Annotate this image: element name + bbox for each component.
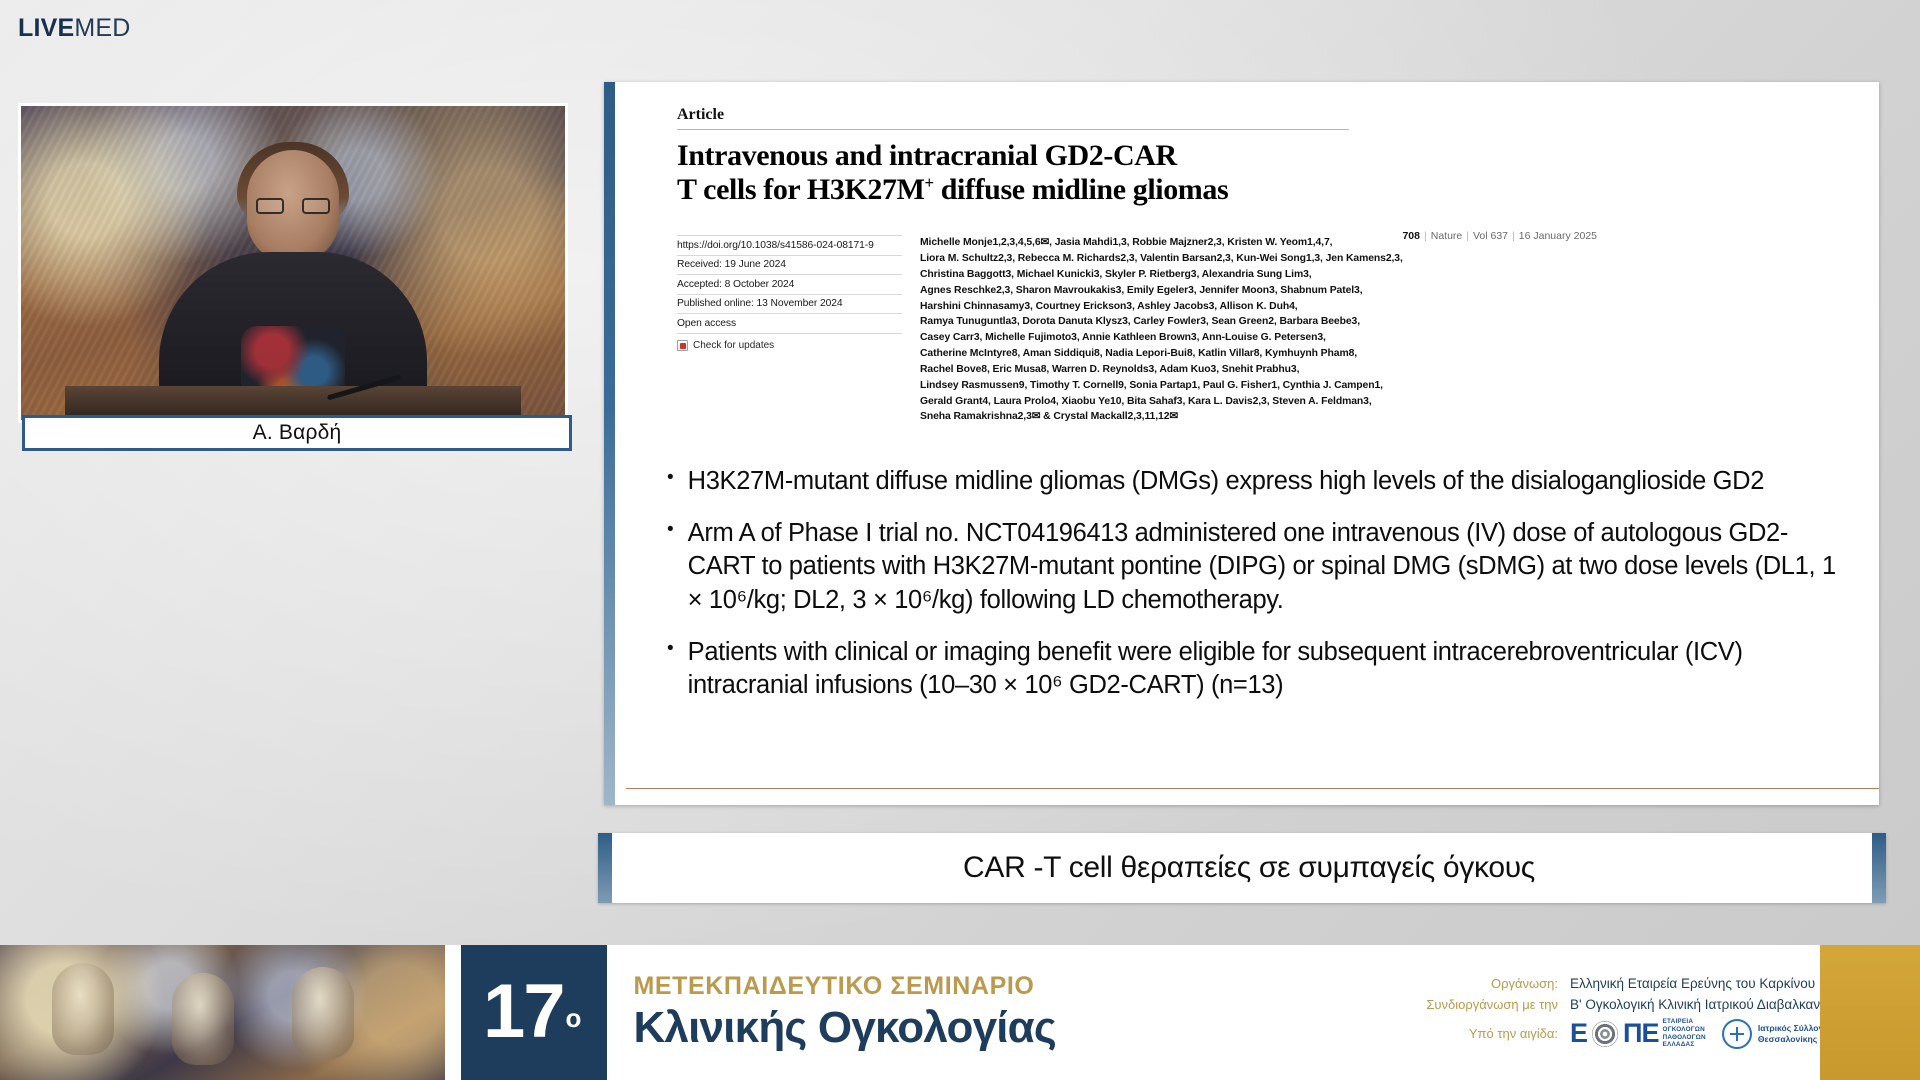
author-line: Agnes Reschke2,3, Sharon Mavroukakis3, E… [920,283,1841,299]
bullet-item: • H3K27M-mutant diffuse midline gliomas … [667,465,1849,498]
citation-volume: Vol 637 [1473,230,1508,242]
seminar-title-block: ΜΕΤΕΚΠΑΙΔΕΥΤΙΚΟ ΣΕΜΙΝΑΡΙΟ Κλινικής Ογκολ… [607,972,1056,1053]
eope-mark-left: E [1570,1018,1587,1049]
citation-date: 16 January 2025 [1519,230,1597,242]
banner-gold-corner [1820,945,1920,1080]
author-line: Gerald Grant4, Laura Prolo4, Xiaobu Ye10… [920,394,1841,410]
banner-main: 17 o ΜΕΤΕΚΠΑΙΔΕΥΤΙΚΟ ΣΕΜΙΝΑΡΙΟ Κλινικής … [445,945,1920,1080]
author-line: Harshini Chinnasamy3, Courtney Erickson3… [920,299,1841,315]
medical-cross-icon [1722,1019,1752,1049]
livemed-logo: LIVEMED [18,14,131,43]
event-banner: 17 o ΜΕΤΕΚΠΑΙΔΕΥΤΙΚΟ ΣΕΜΙΝΑΡΙΟ Κλινικής … [0,945,1920,1080]
seminar-title: Κλινικής Ογκολογίας [633,1003,1056,1053]
organizer-value: Ελληνική Εταιρεία Ερεύνης του Καρκίνου [1570,976,1815,991]
paper-title-line1: Intravenous and intracranial GD2-CAR [677,139,1177,172]
citation-sep-3: | [1508,230,1519,242]
author-line: Christina Baggott3, Michael Kunicki3, Sk… [920,267,1841,283]
slide-footer-rule [626,788,1879,790]
bullet-text: H3K27M-mutant diffuse midline gliomas (D… [688,465,1764,498]
banner-bust-figure [172,973,234,1065]
paper-metadata-column: https://doi.org/10.1038/s41586-024-08171… [677,235,902,425]
eope-subtext: ΕΤΑΙΡΕΙΑΟΓΚΟΛΟΓΩΝΠΑΘΟΛΟΓΩΝΕΛΛΑΔΑΣ [1663,1018,1706,1049]
banner-artwork [0,945,445,1080]
paper-meta-accepted: Accepted: 8 October 2024 [677,275,902,295]
auspices-label: Υπό την αιγίδα: [1380,1026,1558,1041]
edition-number: 17 [483,976,564,1048]
banner-bust-figure [52,963,114,1055]
slide[interactable]: Article Intravenous and intracranial GD2… [604,82,1879,805]
speaker-glasses-icon [256,198,330,214]
paper-clipping: Article Intravenous and intracranial GD2… [667,106,1849,425]
check-for-updates: Check for updates [677,340,902,351]
bullet-text: Arm A of Phase I trial no. NCT04196413 a… [688,517,1838,616]
paper-citation: 708|Nature|Vol 637|16 January 2025 [1402,230,1597,242]
session-title: CAR -T cell θεραπείες σε συμπαγείς όγκου… [963,851,1535,885]
auspices-logos: E ΠΕ ΕΤΑΙΡΕΙΑΟΓΚΟΛΟΓΩΝΠΑΘΟΛΟΓΩΝΕΛΛΑΔΑΣ Ι… [1570,1018,1833,1049]
author-line: Lindsey Rasmussen9, Timothy T. Cornell9,… [920,378,1841,394]
author-line: Liora M. Schultz2,3, Rebecca M. Richards… [920,251,1841,267]
session-title-bar: CAR -T cell θεραπείες σε συμπαγείς όγκου… [598,833,1886,903]
edition-number-block: 17 o [461,945,607,1080]
paper-meta-openaccess: Open access [677,314,902,334]
citation-journal: Nature [1431,230,1463,242]
paper-author-list: Michelle Monje1,2,3,4,5,6✉, Jasia Mahdi1… [920,235,1841,425]
bullet-marker-icon: • [667,465,674,487]
citation-page: 708 [1402,230,1420,242]
bullet-text: Patients with clinical or imaging benefi… [688,636,1838,702]
eope-mark-right: ΠΕ [1623,1018,1659,1049]
paper-meta-received: Received: 19 June 2024 [677,256,902,276]
isth-line2: Θεσσαλονίκης [1758,1034,1817,1044]
check-updates-label: Check for updates [693,340,774,351]
presentation-stage: LIVEMED Α. Βαρδή Article Intravenous and… [0,0,1920,1080]
paper-kicker-rule [677,129,1349,130]
bullet-marker-icon: • [667,517,674,539]
edition-number-ordinal: o [566,1003,582,1034]
speaker-video-panel[interactable] [18,103,568,423]
author-line: Rachel Bove8, Eric Musa8, Warren D. Reyn… [920,362,1841,378]
eope-spiral-icon [1592,1021,1618,1047]
bullet-item: • Arm A of Phase I trial no. NCT04196413… [667,517,1849,616]
bullet-marker-icon: • [667,636,674,658]
speaker-name: Α. Βαρδή [253,421,342,445]
logo-part-live: LIVE [18,14,74,42]
author-line: Casey Carr3, Michelle Fujimoto3, Annie K… [920,330,1841,346]
author-line: Catherine McIntyre8, Aman Siddiqui8, Nad… [920,346,1841,362]
slide-bullet-list: • H3K27M-mutant diffuse midline gliomas … [667,465,1849,702]
author-line: Sneha Ramakrishna2,3✉ & Crystal Mackall2… [920,409,1841,425]
seminar-subtitle: ΜΕΤΕΚΠΑΙΔΕΥΤΙΚΟ ΣΕΜΙΝΑΡΙΟ [633,972,1056,1001]
paper-title: Intravenous and intracranial GD2-CAR T c… [677,139,1377,207]
speaker-name-plate: Α. Βαρδή [22,415,572,451]
paper-kicker: Article [677,106,1841,124]
slide-accent-strip [604,82,615,805]
bullet-item: • Patients with clinical or imaging bene… [667,636,1849,702]
citation-sep-1: | [1420,230,1431,242]
medical-association-logo: Ιατρικός Σύλλογος Θεσσαλονίκης [1722,1019,1833,1049]
banner-bust-figure [292,967,354,1059]
organizer-label: Συνδιοργάνωση με την [1380,997,1558,1012]
paper-title-line2-pre: T cells for H3K27M [677,173,925,206]
author-line: Michelle Monje1,2,3,4,5,6✉, Jasia Mahdi1… [920,235,1841,251]
paper-meta-doi: https://doi.org/10.1038/s41586-024-08171… [677,235,902,256]
author-line: Ramya Tunuguntla3, Dorota Danuta Klysz3,… [920,314,1841,330]
paper-title-line2-post: diffuse midline gliomas [934,173,1229,206]
citation-sep-2: | [1462,230,1473,242]
speaker-video-frame[interactable] [18,103,568,423]
paper-title-superscript: + [925,173,934,192]
logo-part-med: MED [74,14,130,42]
paper-meta-published: Published online: 13 November 2024 [677,295,902,315]
organizer-label: Οργάνωση: [1380,976,1558,991]
check-updates-icon [677,340,688,351]
eope-logo: E ΠΕ ΕΤΑΙΡΕΙΑΟΓΚΟΛΟΓΩΝΠΑΘΟΛΟΓΩΝΕΛΛΑΔΑΣ [1570,1018,1706,1049]
